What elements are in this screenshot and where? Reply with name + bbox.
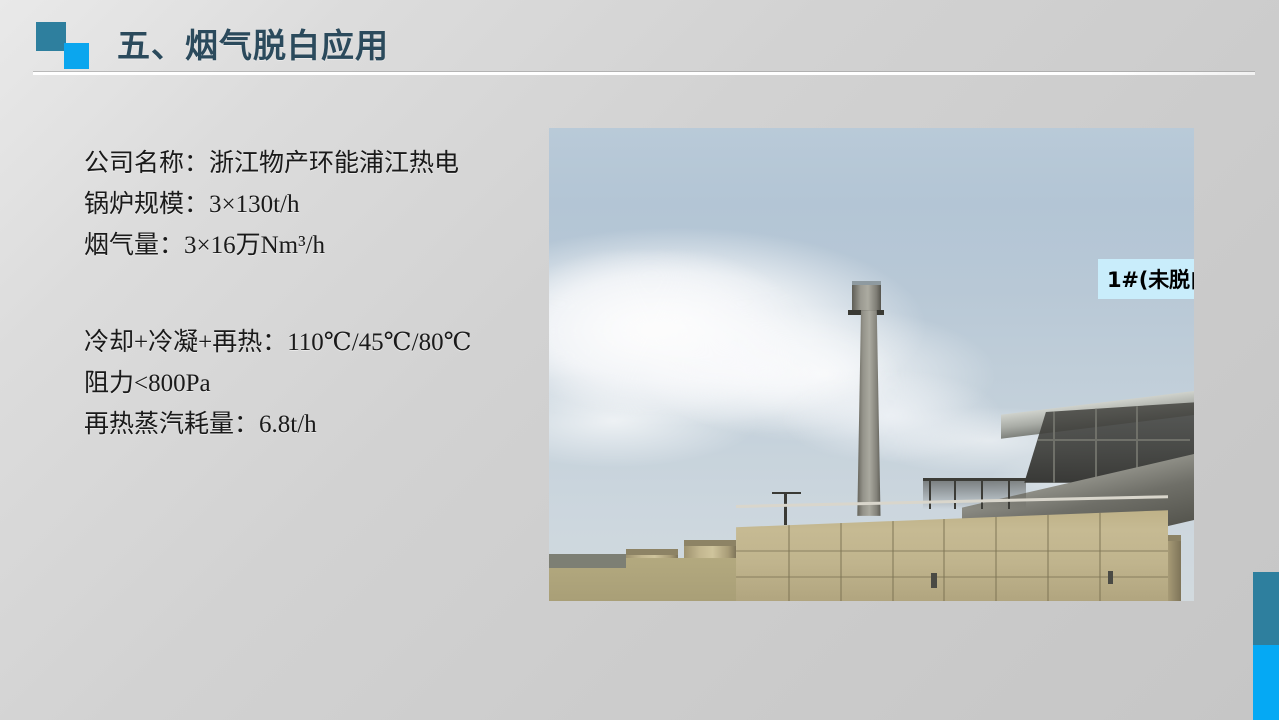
- text-line-flue-gas-volume: 烟气量：3×16万Nm³/h: [84, 225, 514, 266]
- site-photo: 1#(未脱白)+3#(低省+冷凝+再热)混合排放无白烟: [549, 128, 1194, 601]
- photo-gantry-leg: [954, 481, 956, 509]
- title-underline: [33, 72, 1255, 75]
- photo-building-seam: [788, 522, 790, 601]
- photo-gantry: [923, 478, 1026, 509]
- photo-cloud-center: [743, 355, 1040, 478]
- photo-silo-top: [626, 549, 678, 555]
- photo-building-seam: [995, 512, 997, 601]
- content-text-column: 公司名称：浙江物产环能浦江热电 锅炉规模：3×130t/h 烟气量：3×16万N…: [84, 143, 514, 445]
- photo-mast: [784, 492, 787, 525]
- photo-building-seam: [736, 550, 1168, 552]
- text-line-steam-consumption: 再热蒸汽耗量：6.8t/h: [84, 404, 514, 445]
- page-title: 五、烟气脱白应用: [117, 19, 389, 67]
- photo-gantry-leg: [981, 481, 983, 509]
- photo-frame-bar: [1095, 406, 1097, 482]
- photo-silo-top: [684, 540, 736, 546]
- photo-building-vent: [931, 573, 937, 588]
- corner-accent-teal: [1253, 572, 1279, 645]
- text-line-company-name: 公司名称：浙江物产环能浦江热电: [84, 143, 514, 184]
- text-line-temperatures: 冷却+冷凝+再热：110℃/45℃/80℃: [84, 322, 514, 363]
- photo-gantry-leg: [1008, 481, 1010, 509]
- spec-block-process: 冷却+冷凝+再热：110℃/45℃/80℃ 阻力<800Pa 再热蒸汽耗量：6.…: [84, 322, 514, 445]
- photo-building-seam: [1099, 510, 1101, 601]
- photo-gantry-leg: [929, 481, 931, 509]
- spec-block-company: 公司名称：浙江物产环能浦江热电 锅炉规模：3×130t/h 烟气量：3×16万N…: [84, 143, 514, 266]
- slide: 五、烟气脱白应用 公司名称：浙江物产环能浦江热电 锅炉规模：3×130t/h 烟…: [0, 0, 1279, 720]
- photo-building-seam: [943, 514, 945, 601]
- photo-building-seam: [892, 516, 894, 601]
- photo-building-seam: [736, 576, 1168, 578]
- photo-chimney-stack: [857, 310, 880, 516]
- text-line-boiler-scale: 锅炉规模：3×130t/h: [84, 184, 514, 225]
- photo-frame-bar: [1028, 439, 1191, 441]
- photo-building-seam: [840, 518, 842, 601]
- photo-building-seam: [1047, 511, 1049, 601]
- photo-caption-banner: 1#(未脱白)+3#(低省+冷凝+再热)混合排放无白烟: [1098, 259, 1194, 299]
- photo-left-ridge: [549, 554, 626, 568]
- text-line-resistance: 阻力<800Pa: [84, 363, 514, 404]
- photo-building-vent: [1108, 571, 1113, 584]
- corner-accent-blue: [1253, 645, 1279, 720]
- photo-caption-text: 1#(未脱白)+3#(低省+冷凝+再热)混合排放无白烟: [1107, 264, 1194, 294]
- photo-frame-bar: [1053, 409, 1055, 483]
- deco-square-dark-icon: [36, 22, 66, 51]
- photo-stack-cap: [852, 285, 880, 312]
- deco-square-bright-icon: [64, 43, 89, 69]
